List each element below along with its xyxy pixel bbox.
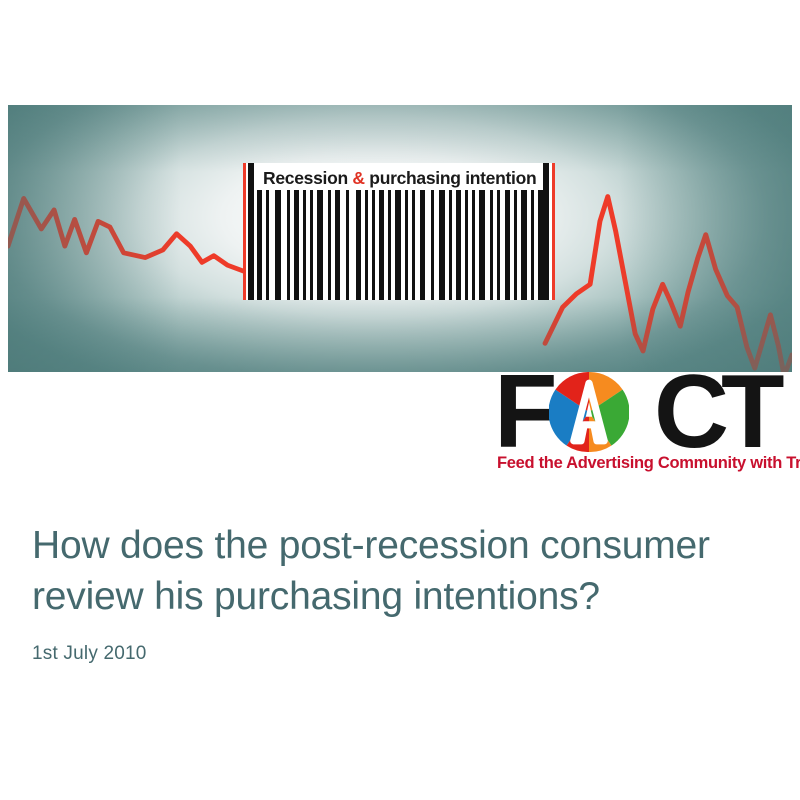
barcode-bar — [372, 190, 375, 300]
barcode-bar — [490, 190, 493, 300]
barcode-bars — [243, 190, 555, 300]
barcode-label-prefix: Recession — [263, 168, 352, 188]
barcode-bar — [395, 190, 401, 300]
barcode-bar — [531, 190, 534, 300]
fact-a-wheel-icon — [549, 372, 629, 452]
barcode-bar — [294, 190, 299, 300]
barcode-bar — [449, 190, 452, 300]
barcode-bar — [465, 190, 468, 300]
trend-line-right — [545, 197, 792, 372]
barcode-label-suffix: purchasing intention — [365, 168, 537, 188]
barcode-label: Recession & purchasing intention — [263, 165, 536, 191]
barcode-bar — [356, 190, 361, 300]
barcode-label-ampersand: & — [352, 168, 364, 188]
barcode-bar — [497, 190, 500, 300]
fact-tagline: Feed the Advertising Community with Tren… — [497, 454, 800, 473]
barcode-bar — [328, 190, 331, 300]
barcode-bar — [538, 190, 543, 300]
barcode-bar — [266, 190, 269, 300]
fact-logo: F C T Feed the Advertising C — [494, 370, 786, 480]
barcode-bar — [365, 190, 368, 300]
slide-date: 1st July 2010 — [32, 643, 772, 665]
barcode-bar — [420, 190, 425, 300]
barcode-bar — [514, 190, 517, 300]
barcode-bar — [275, 190, 281, 300]
page-title: How does the post-recession consumer rev… — [32, 520, 772, 623]
barcode-bar — [388, 190, 391, 300]
barcode-bar — [472, 190, 475, 300]
barcode-bar — [335, 190, 340, 300]
barcode-bar — [479, 190, 485, 300]
barcode-bar — [505, 190, 510, 300]
title-block: How does the post-recession consumer rev… — [32, 520, 772, 665]
barcode-bar — [431, 190, 434, 300]
fact-letter-t: T — [721, 360, 785, 464]
barcode-bar — [317, 190, 323, 300]
barcode-bar — [412, 190, 415, 300]
fact-letter-f: F — [494, 360, 554, 464]
fact-wordmark: F C T — [494, 370, 786, 455]
barcode-bar — [303, 190, 306, 300]
barcode-bar — [405, 190, 408, 300]
barcode-bar — [346, 190, 349, 300]
barcode-bar — [287, 190, 290, 300]
barcode-graphic: Recession & purchasing intention — [243, 163, 555, 300]
barcode-bar — [439, 190, 445, 300]
barcode-bar — [379, 190, 384, 300]
slide-root: Recession & purchasing intention F — [0, 0, 800, 800]
barcode-bar — [310, 190, 313, 300]
fact-letter-c: C — [654, 360, 729, 464]
barcode-bar — [456, 190, 461, 300]
barcode-bar — [521, 190, 527, 300]
barcode-bar — [257, 190, 262, 300]
